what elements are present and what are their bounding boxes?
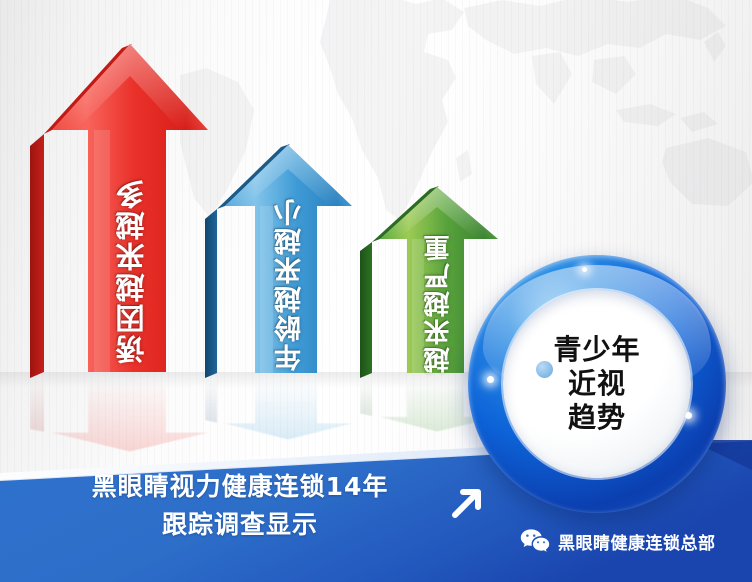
wechat-account-footer: 黑眼睛健康连锁总部: [520, 528, 716, 554]
arrow-blue-reflection: [205, 378, 355, 440]
badge-accent-dot: [536, 361, 553, 378]
band-headline: 黑眼睛视力健康连锁14年 跟踪调查显示: [40, 468, 440, 543]
badge-text: 青少年 近视 趋势: [553, 333, 640, 435]
wechat-icon: [520, 528, 550, 554]
arrow-red: 诱因越来越多: [30, 42, 210, 378]
band-headline-line-1: 黑眼睛视力健康连锁14年: [40, 468, 440, 506]
arrow-blue-shape: [205, 143, 355, 378]
wechat-account-name: 黑眼睛健康连锁总部: [558, 529, 716, 554]
badge-text-line-1: 青少年: [553, 333, 640, 367]
badge-text-line-3: 趋势: [553, 401, 640, 435]
badge-inner-disc: 青少年 近视 趋势: [503, 290, 691, 478]
badge-text-line-2: 近视: [553, 367, 640, 401]
arrow-red-shape: [30, 42, 210, 378]
badge-sparkle-top: [582, 267, 587, 272]
infographic-poster: 诱因越来越多: [0, 0, 752, 582]
band-headline-line-2: 跟踪调查显示: [40, 506, 440, 544]
arrow-red-reflection: [30, 378, 210, 452]
arrow-blue: 年龄越来越小: [205, 143, 355, 378]
youth-myopia-trend-badge: 青少年 近视 趋势: [468, 255, 726, 513]
